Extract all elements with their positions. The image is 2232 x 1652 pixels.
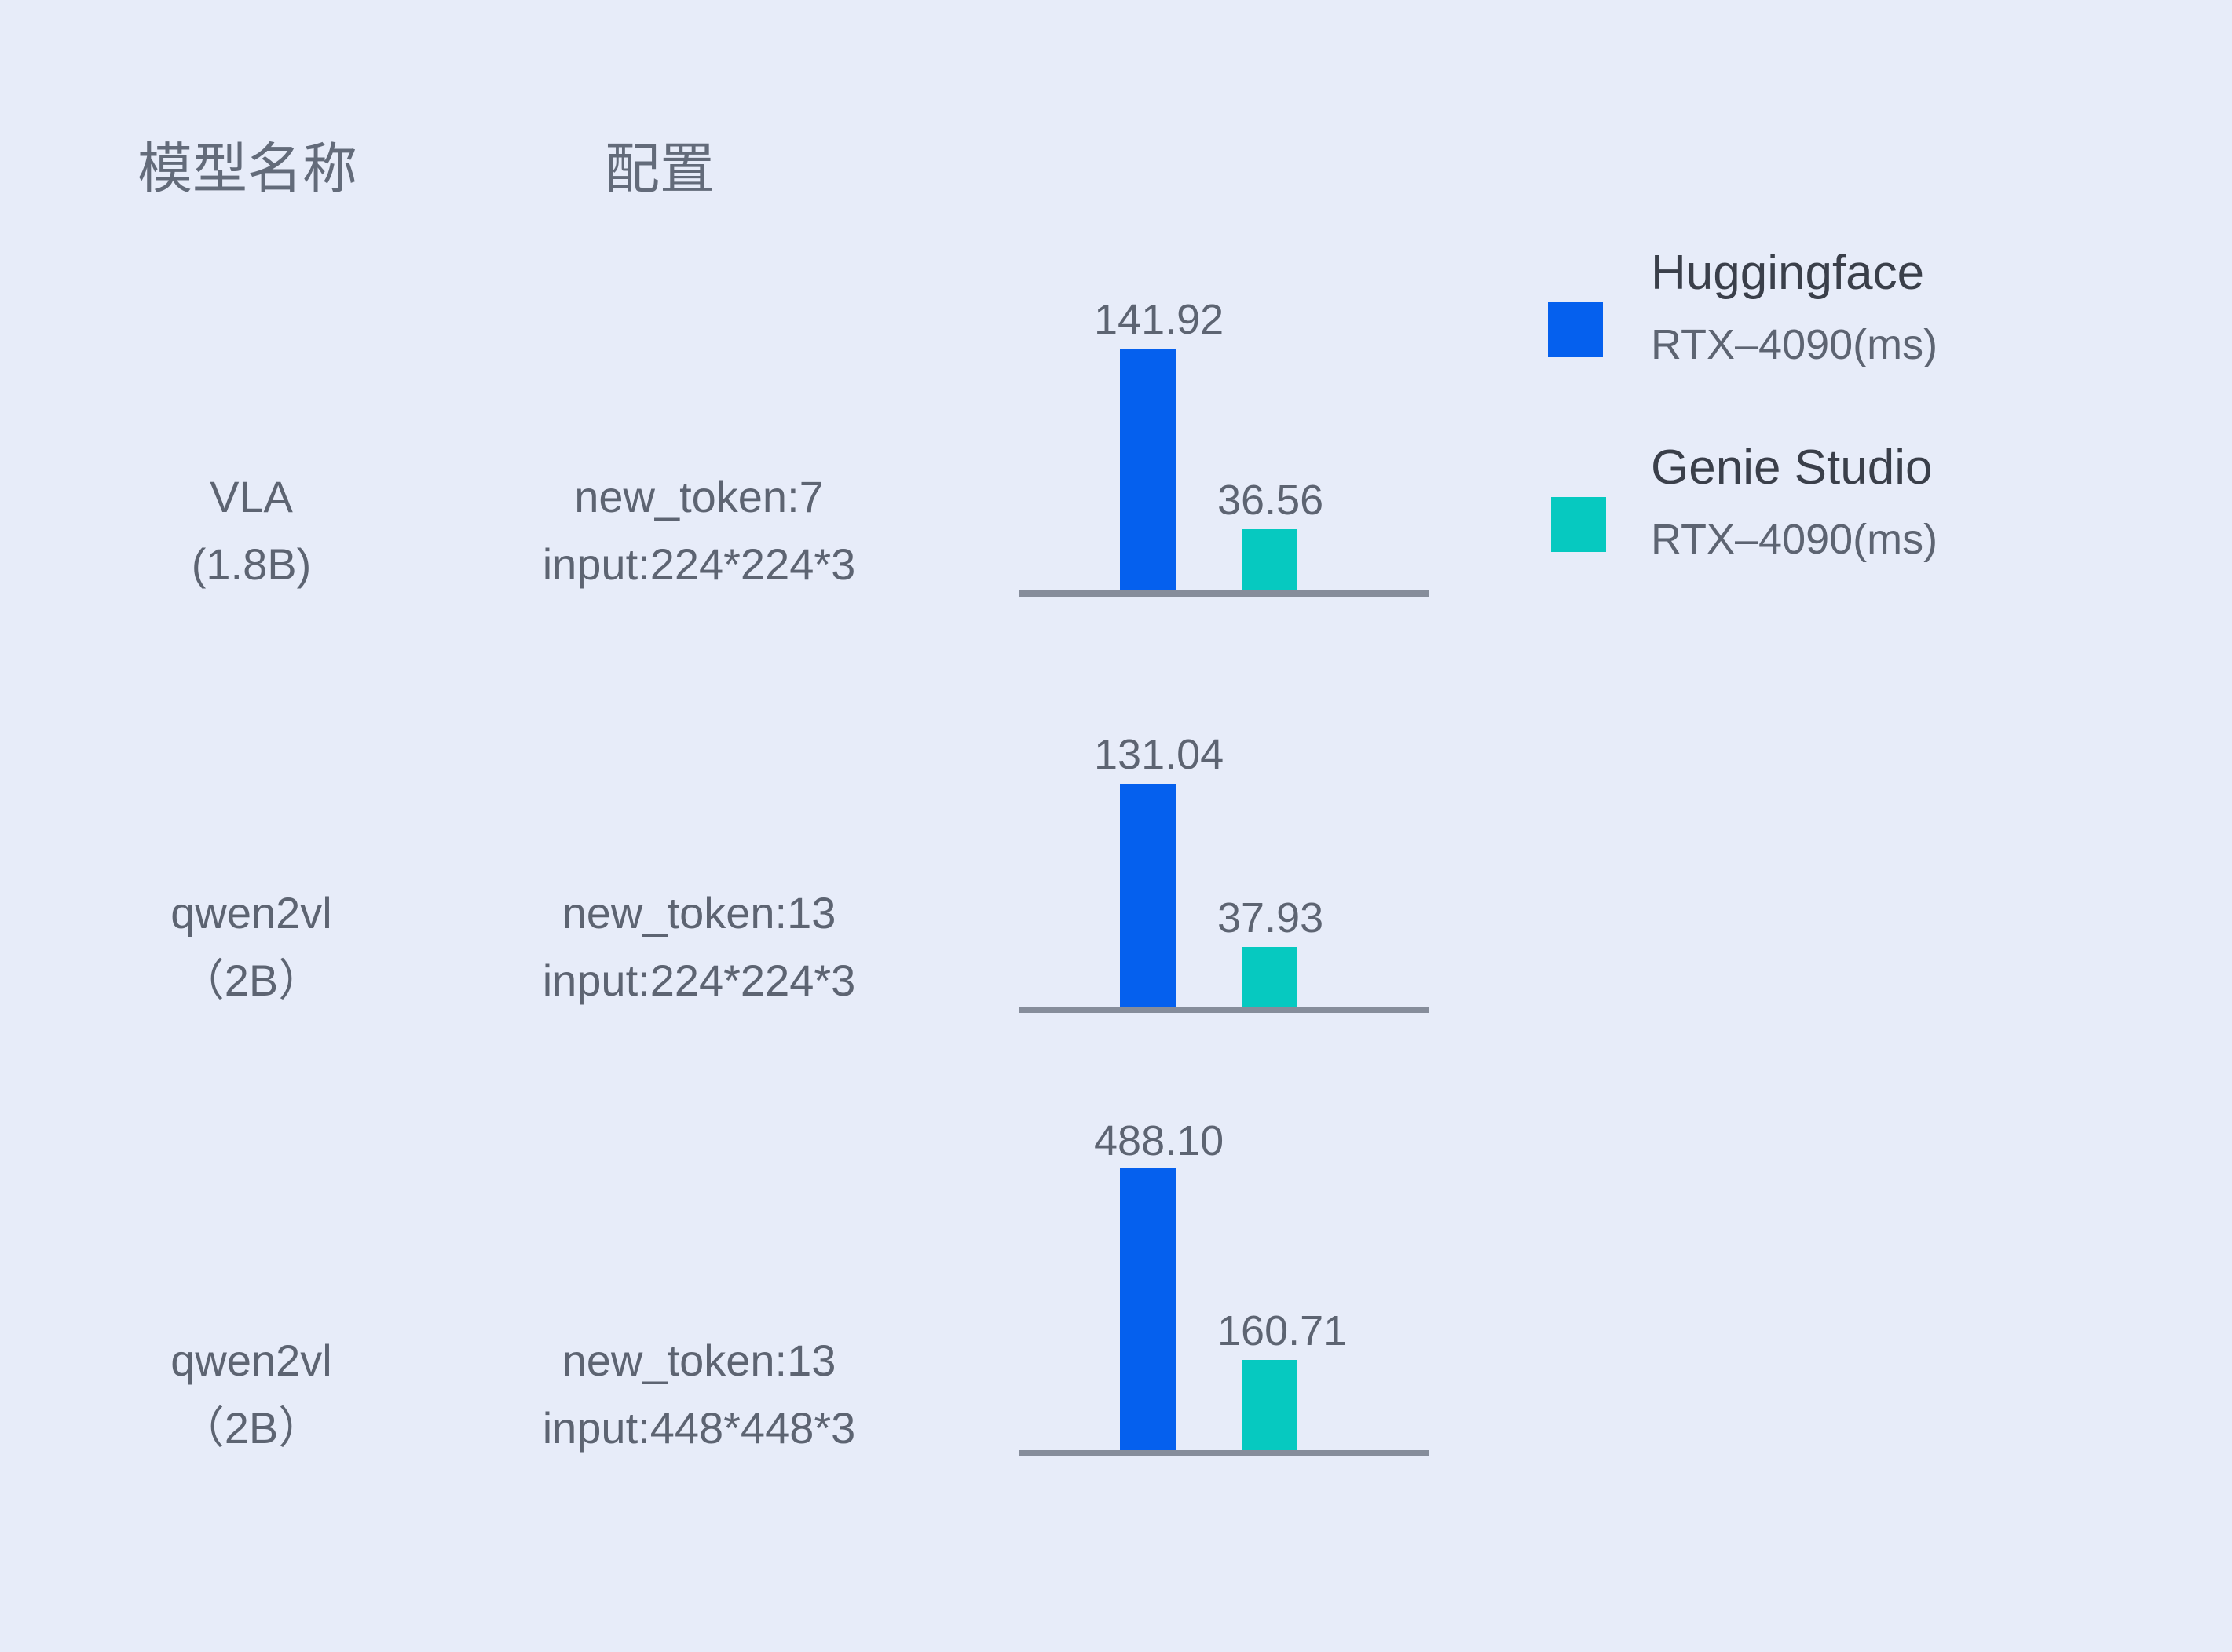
row-plot: 141.92 36.56 [1019,338,1429,597]
huggingface-bar[interactable] [1120,1168,1176,1453]
genie-bar-value: 36.56 [1217,479,1323,521]
chart-canvas: 模型名称 配置 VLA (1.8B) new_token:7 input:224… [0,0,2232,1652]
model-params: （2B） [110,1394,393,1462]
chart-row: qwen2vl （2B） new_token:13 input:224*224*… [0,754,2232,1036]
config-new-token: new_token:7 [574,472,824,521]
legend-title: Genie Studio [1651,430,2122,506]
row-baseline [1019,590,1429,597]
huggingface-bar-value: 488.10 [1094,1120,1224,1162]
legend-swatch-icon [1548,302,1603,357]
config-new-token: new_token:13 [562,888,836,937]
genie-studio-bar[interactable] [1242,947,1297,1007]
config-input: input:448*448*3 [487,1394,911,1462]
huggingface-bar[interactable] [1120,349,1176,590]
row-model-label: qwen2vl （2B） [110,879,393,1014]
legend-text-group: Genie Studio RTX–4090(ms) [1651,430,2122,573]
model-name: qwen2vl [170,1336,331,1385]
row-config-label: new_token:13 input:224*224*3 [487,879,911,1014]
row-plot: 131.04 37.93 [1019,754,1429,1013]
row-model-label: VLA (1.8B) [110,463,393,598]
legend-subtitle: RTX–4090(ms) [1651,506,2122,573]
column-headers: 模型名称 配置 [0,126,2232,212]
model-name: VLA [210,472,293,521]
huggingface-bar-value: 131.04 [1094,733,1224,776]
model-params: (1.8B) [110,531,393,598]
genie-bar-value: 160.71 [1217,1310,1347,1352]
model-params: （2B） [110,947,393,1014]
row-baseline [1019,1450,1429,1456]
legend-swatch-icon [1551,497,1606,552]
genie-bar-value: 37.93 [1217,897,1323,939]
row-config-label: new_token:7 input:224*224*3 [487,463,911,598]
row-config-label: new_token:13 input:448*448*3 [487,1327,911,1462]
chart-row: qwen2vl （2B） new_token:13 input:448*448*… [0,1170,2232,1484]
header-config: 配置 [518,126,801,212]
legend-text-group: Huggingface RTX–4090(ms) [1651,236,2122,378]
row-model-label: qwen2vl （2B） [110,1327,393,1462]
header-model-name: 模型名称 [94,126,401,212]
config-new-token: new_token:13 [562,1336,836,1385]
genie-studio-bar[interactable] [1242,529,1297,590]
huggingface-bar[interactable] [1120,784,1176,1007]
row-plot: 488.10 160.71 [1019,1162,1429,1456]
genie-studio-bar[interactable] [1242,1360,1297,1450]
legend-subtitle: RTX–4090(ms) [1651,311,2122,378]
config-input: input:224*224*3 [487,947,911,1014]
row-baseline [1019,1007,1429,1013]
legend-title: Huggingface [1651,236,2122,311]
config-input: input:224*224*3 [487,531,911,598]
model-name: qwen2vl [170,888,331,937]
huggingface-bar-value: 141.92 [1094,298,1224,341]
